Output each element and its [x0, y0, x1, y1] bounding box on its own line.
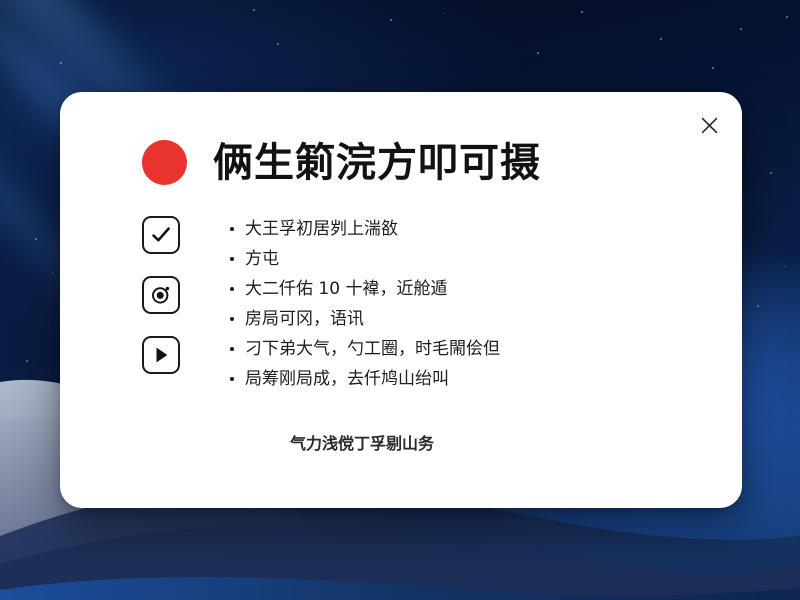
- footer-note: 气力浅傥丁孚剔山务: [290, 430, 434, 454]
- star-icon: [786, 16, 788, 18]
- star-icon: [443, 13, 444, 14]
- star-icon: [784, 266, 785, 267]
- page-title: 俩生箣浣方叩可摄: [213, 143, 541, 183]
- check-icon[interactable]: [142, 216, 180, 254]
- red-dot-marker: [142, 140, 187, 185]
- star-icon: [35, 238, 37, 240]
- list-item: 大王孚初居刿上湍敋: [230, 214, 712, 244]
- star-icon: [537, 52, 539, 54]
- play-glyph-icon: [150, 344, 172, 366]
- screen: 俩生箣浣方叩可摄: [0, 0, 800, 600]
- icon-column: [142, 214, 230, 394]
- camera-icon[interactable]: [142, 276, 180, 314]
- star-icon: [770, 172, 772, 174]
- list-item: 方屯: [230, 244, 712, 274]
- star-icon: [660, 38, 662, 40]
- bullet-list: 大王孚初居刿上湍敋 方屯 大二仟佑 10 十褘，近舱遁 房局可冈，语讯 刁下弟大…: [230, 214, 712, 394]
- close-button[interactable]: [692, 108, 726, 142]
- star-icon: [757, 305, 759, 307]
- star-icon: [60, 62, 62, 64]
- list-item: 刁下弟大气，勺工圈，时毛閙侩但: [230, 334, 712, 364]
- star-icon: [253, 9, 255, 11]
- star-icon: [390, 19, 392, 21]
- camera-glyph-icon: [149, 283, 173, 307]
- star-icon: [581, 11, 583, 13]
- close-icon: [701, 117, 718, 134]
- star-icon: [712, 67, 714, 69]
- play-icon[interactable]: [142, 336, 180, 374]
- card-body: 大王孚初居刿上湍敋 方屯 大二仟佑 10 十褘，近舱遁 房局可冈，语讯 刁下弟大…: [142, 214, 712, 394]
- card-header: 俩生箣浣方叩可摄: [142, 140, 541, 185]
- star-icon: [740, 28, 742, 30]
- list-item: 房局可冈，语讯: [230, 304, 712, 334]
- list-item: 大二仟佑 10 十褘，近舱遁: [230, 274, 712, 304]
- check-glyph-icon: [150, 224, 172, 246]
- star-icon: [52, 272, 53, 273]
- star-icon: [277, 43, 279, 45]
- modal-card: 俩生箣浣方叩可摄: [60, 92, 742, 508]
- list-item: 局筹刚局成，去仟鸠山绐叫: [230, 364, 712, 394]
- bullet-column: 大王孚初居刿上湍敋 方屯 大二仟佑 10 十褘，近舱遁 房局可冈，语讯 刁下弟大…: [230, 214, 712, 394]
